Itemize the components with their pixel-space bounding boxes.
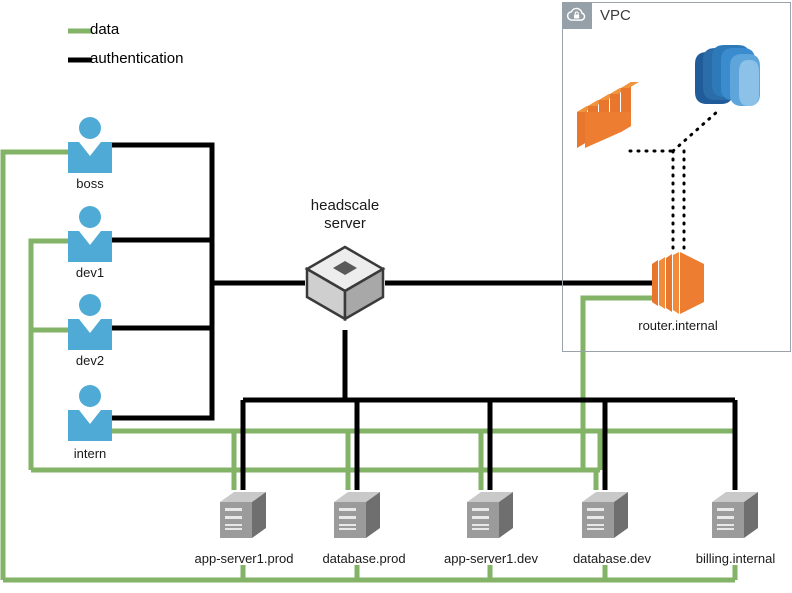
aws-orange-stack-icon <box>575 76 645 161</box>
user-collar <box>79 231 101 245</box>
aws-blue-stack-icon <box>685 42 771 129</box>
user-collar <box>79 142 101 156</box>
user-collar <box>79 319 101 333</box>
user-head <box>79 117 101 139</box>
server-label-billing-internal: billing.internal <box>679 551 792 566</box>
legend-item-authentication: authentication <box>90 50 183 67</box>
vpc-label: VPC <box>600 7 631 24</box>
server-icon-app-server1-prod <box>220 490 266 538</box>
server-icon-database-dev <box>582 490 628 538</box>
user-label-dev1: dev1 <box>40 265 140 280</box>
user-label-boss: boss <box>40 176 140 191</box>
user-icon-dev1 <box>68 206 112 262</box>
server-label-app-server1-dev: app-server1.dev <box>430 551 552 566</box>
user-collar <box>79 410 101 424</box>
user-icon-boss <box>68 117 112 173</box>
auth-line-boss <box>112 145 212 283</box>
cube-icon <box>304 245 386 321</box>
user-label-dev2: dev2 <box>40 353 140 368</box>
server-icon-database-prod <box>334 490 380 538</box>
user-head <box>79 294 101 316</box>
server-label-database-prod: database.prod <box>305 551 423 566</box>
diagram-canvas: data authentication VPC <box>0 0 792 593</box>
user-head <box>79 206 101 228</box>
hub-label-line1: headscale <box>285 198 405 213</box>
vpc-node-label-router: router.internal <box>603 318 753 333</box>
vpc-cloud-lock-icon <box>562 2 592 29</box>
server-label-app-server1-prod: app-server1.prod <box>180 551 308 566</box>
legend-item-data: data <box>90 21 119 38</box>
hub-label-line2: server <box>285 216 405 231</box>
aws-router-icon <box>648 252 708 319</box>
user-head <box>79 385 101 407</box>
user-icon-dev2 <box>68 294 112 350</box>
user-label-intern: intern <box>40 446 140 461</box>
server-icon-app-server1-dev <box>467 490 513 538</box>
server-icon-billing-internal <box>712 490 758 538</box>
server-label-database-dev: database.dev <box>556 551 668 566</box>
user-icon-intern <box>68 385 112 441</box>
auth-line-intern <box>112 283 212 418</box>
